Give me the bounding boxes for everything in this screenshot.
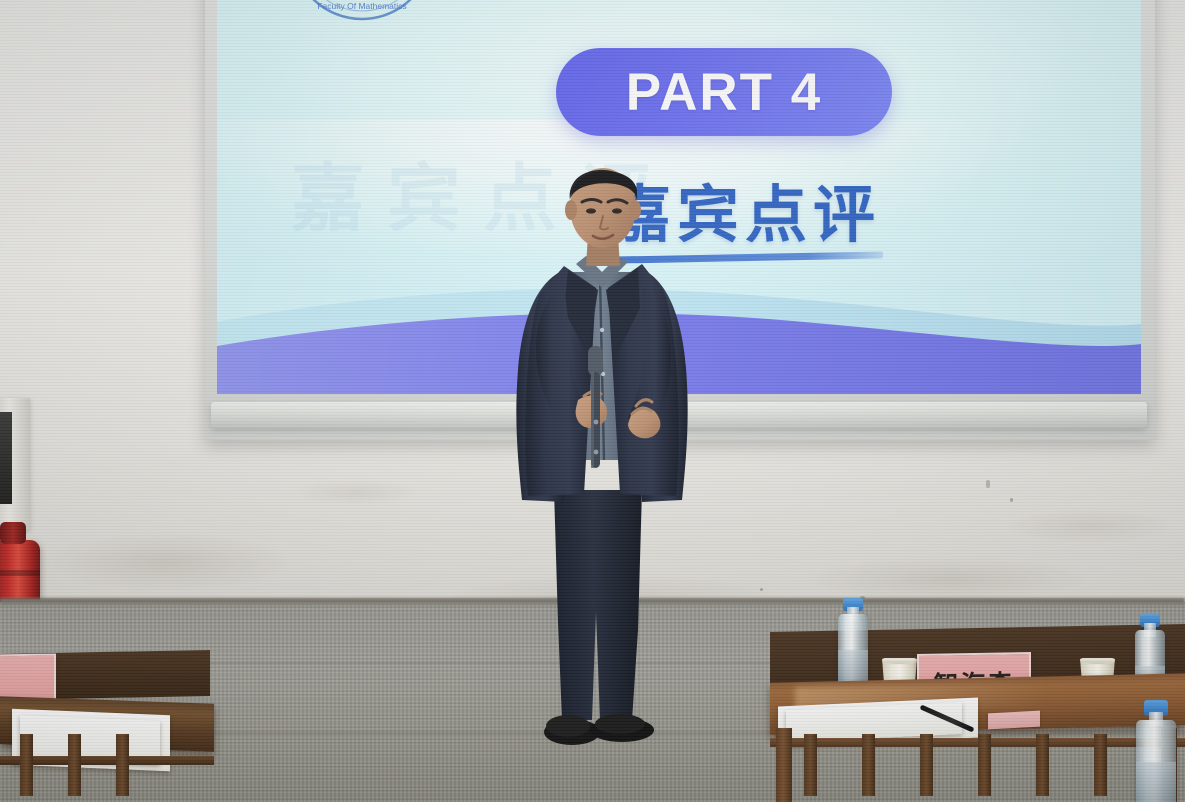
svg-text:Faculty Of Mathematics: Faculty Of Mathematics xyxy=(317,1,406,11)
table-slat xyxy=(862,734,875,796)
wall-panel-slot xyxy=(0,412,12,504)
table-slat xyxy=(116,734,129,796)
panel-table-right: 智海森 xyxy=(770,650,1185,802)
faculty-seal-logo: Faculty Of Mathematics xyxy=(287,0,437,24)
wall-panel xyxy=(0,398,30,530)
wall-speck xyxy=(986,480,990,488)
photo-scene: 嘉宾点评 Faculty Of Mathematics xyxy=(0,0,1185,802)
table-slat xyxy=(1036,734,1049,796)
water-bottle xyxy=(1136,700,1176,802)
part-badge: PART 4 xyxy=(556,48,892,136)
panel-table-left xyxy=(0,660,190,802)
wall-speck xyxy=(760,588,763,591)
fire-extinguisher-handle xyxy=(0,522,26,544)
table-leg xyxy=(776,728,792,802)
paper-cup-rim xyxy=(1078,657,1117,664)
table-slat xyxy=(804,734,817,796)
bottle-label xyxy=(838,650,868,684)
table-slat xyxy=(978,734,991,796)
table-slat xyxy=(1094,734,1107,796)
speaker-person xyxy=(492,160,712,770)
name-placard-label xyxy=(21,676,29,697)
fire-extinguisher-band xyxy=(0,570,40,576)
table-slat xyxy=(68,734,81,796)
pink-note-scrap xyxy=(988,711,1040,730)
bottle-label xyxy=(1136,762,1176,802)
table-slat xyxy=(920,734,933,796)
part-badge-label: PART 4 xyxy=(626,62,823,123)
paper-cup-rim xyxy=(880,657,919,664)
table-slat xyxy=(20,734,33,796)
wall-speck xyxy=(1010,498,1013,502)
